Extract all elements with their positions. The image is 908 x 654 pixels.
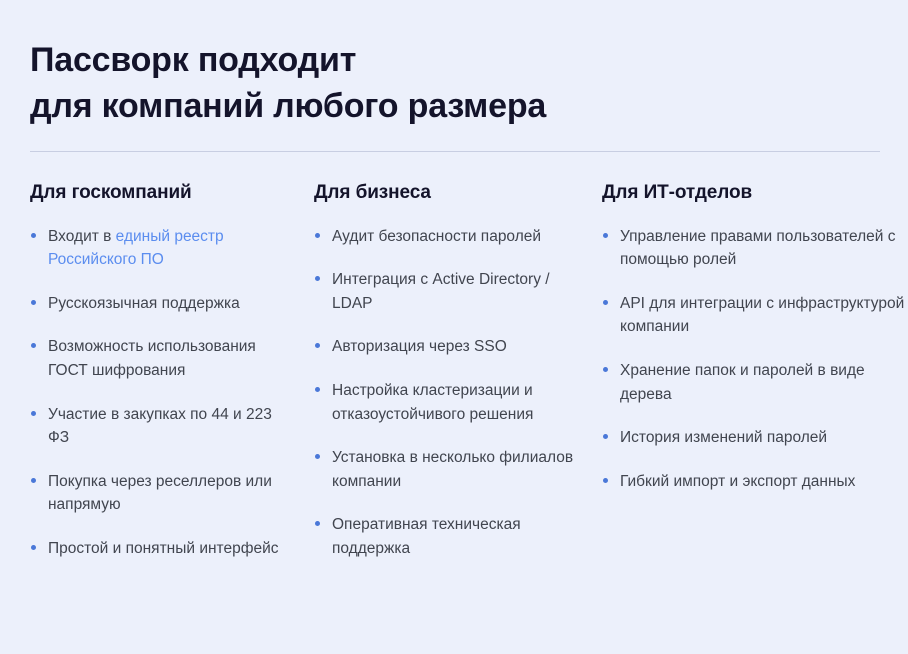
benefit-list: Входит в единый реестр Российского ПОРус… [30, 225, 292, 560]
bullet-icon [31, 478, 36, 483]
list-item: Гибкий импорт и экспорт данных [602, 470, 908, 494]
section-divider [30, 151, 880, 152]
list-item: Простой и понятный интерфейс [30, 537, 292, 561]
list-item: Установка в несколько филиалов компании [314, 446, 576, 493]
bullet-icon [31, 545, 36, 550]
list-item-text: Установка в несколько филиалов компании [332, 449, 573, 490]
list-item-text: Входит в [48, 228, 116, 245]
bullet-icon [315, 233, 320, 238]
list-item: Настройка кластеризации и отказоустойчив… [314, 379, 576, 426]
page-title: Пассворк подходит для компаний любого ра… [30, 37, 860, 130]
bullet-icon [315, 276, 320, 281]
list-item-text: Интеграция с Active Directory / LDAP [332, 271, 550, 312]
bullet-icon [31, 411, 36, 416]
list-item-text: Русскоязычная поддержка [48, 295, 240, 312]
benefits-columns: Для госкомпанийВходит в единый реестр Ро… [0, 182, 908, 560]
list-item-text: Гибкий импорт и экспорт данных [620, 473, 855, 490]
list-item: Хранение папок и паролей в виде дерева [602, 359, 908, 406]
bullet-icon [315, 521, 320, 526]
list-item: Входит в единый реестр Российского ПО [30, 225, 292, 272]
list-item-text: Простой и понятный интерфейс [48, 540, 279, 557]
bullet-icon [31, 300, 36, 305]
benefit-list: Управление правами пользователей с помощ… [602, 225, 908, 493]
bullet-icon [315, 454, 320, 459]
bullet-icon [31, 343, 36, 348]
list-item-text: Авторизация через SSO [332, 338, 507, 355]
bullet-icon [603, 367, 608, 372]
list-item-text: История изменений паролей [620, 429, 827, 446]
column-title: Для ИТ-отделов [602, 182, 908, 205]
list-item: Аудит безопасности паролей [314, 225, 576, 249]
list-item: Покупка через реселлеров или напрямую [30, 470, 292, 517]
list-item: Авторизация через SSO [314, 335, 576, 359]
benefits-column: Для бизнесаАудит безопасности паролейИнт… [292, 182, 576, 560]
list-item-text: Управление правами пользователей с помощ… [620, 228, 896, 269]
bullet-icon [603, 233, 608, 238]
benefits-column: Для госкомпанийВходит в единый реестр Ро… [0, 182, 292, 560]
list-item: Оперативная техническая поддержка [314, 513, 576, 560]
bullet-icon [315, 387, 320, 392]
bullet-icon [603, 434, 608, 439]
column-title: Для госкомпаний [30, 182, 292, 205]
bullet-icon [315, 343, 320, 348]
list-item: API для интеграции с инфраструктурой ком… [602, 292, 908, 339]
list-item: Русскоязычная поддержка [30, 292, 292, 316]
list-item-text: Аудит безопасности паролей [332, 228, 541, 245]
benefit-list: Аудит безопасности паролейИнтеграция с A… [314, 225, 576, 560]
list-item-text: Хранение папок и паролей в виде дерева [620, 362, 865, 403]
list-item-text: Покупка через реселлеров или напрямую [48, 473, 272, 514]
benefits-column: Для ИТ-отделовУправление правами пользов… [576, 182, 908, 493]
column-title: Для бизнеса [314, 182, 576, 205]
list-item-text: API для интеграции с инфраструктурой ком… [620, 295, 904, 336]
list-item: Возможность использования ГОСТ шифровани… [30, 335, 292, 382]
list-item: Участие в закупках по 44 и 223 ФЗ [30, 403, 292, 450]
bullet-icon [31, 233, 36, 238]
list-item: Управление правами пользователей с помощ… [602, 225, 908, 272]
list-item-text: Настройка кластеризации и отказоустойчив… [332, 382, 533, 423]
list-item: История изменений паролей [602, 426, 908, 450]
benefits-section: Пассворк подходит для компаний любого ра… [0, 0, 908, 654]
bullet-icon [603, 478, 608, 483]
list-item-text: Возможность использования ГОСТ шифровани… [48, 338, 256, 379]
bullet-icon [603, 300, 608, 305]
list-item: Интеграция с Active Directory / LDAP [314, 268, 576, 315]
list-item-text: Участие в закупках по 44 и 223 ФЗ [48, 406, 272, 447]
list-item-text: Оперативная техническая поддержка [332, 516, 521, 557]
